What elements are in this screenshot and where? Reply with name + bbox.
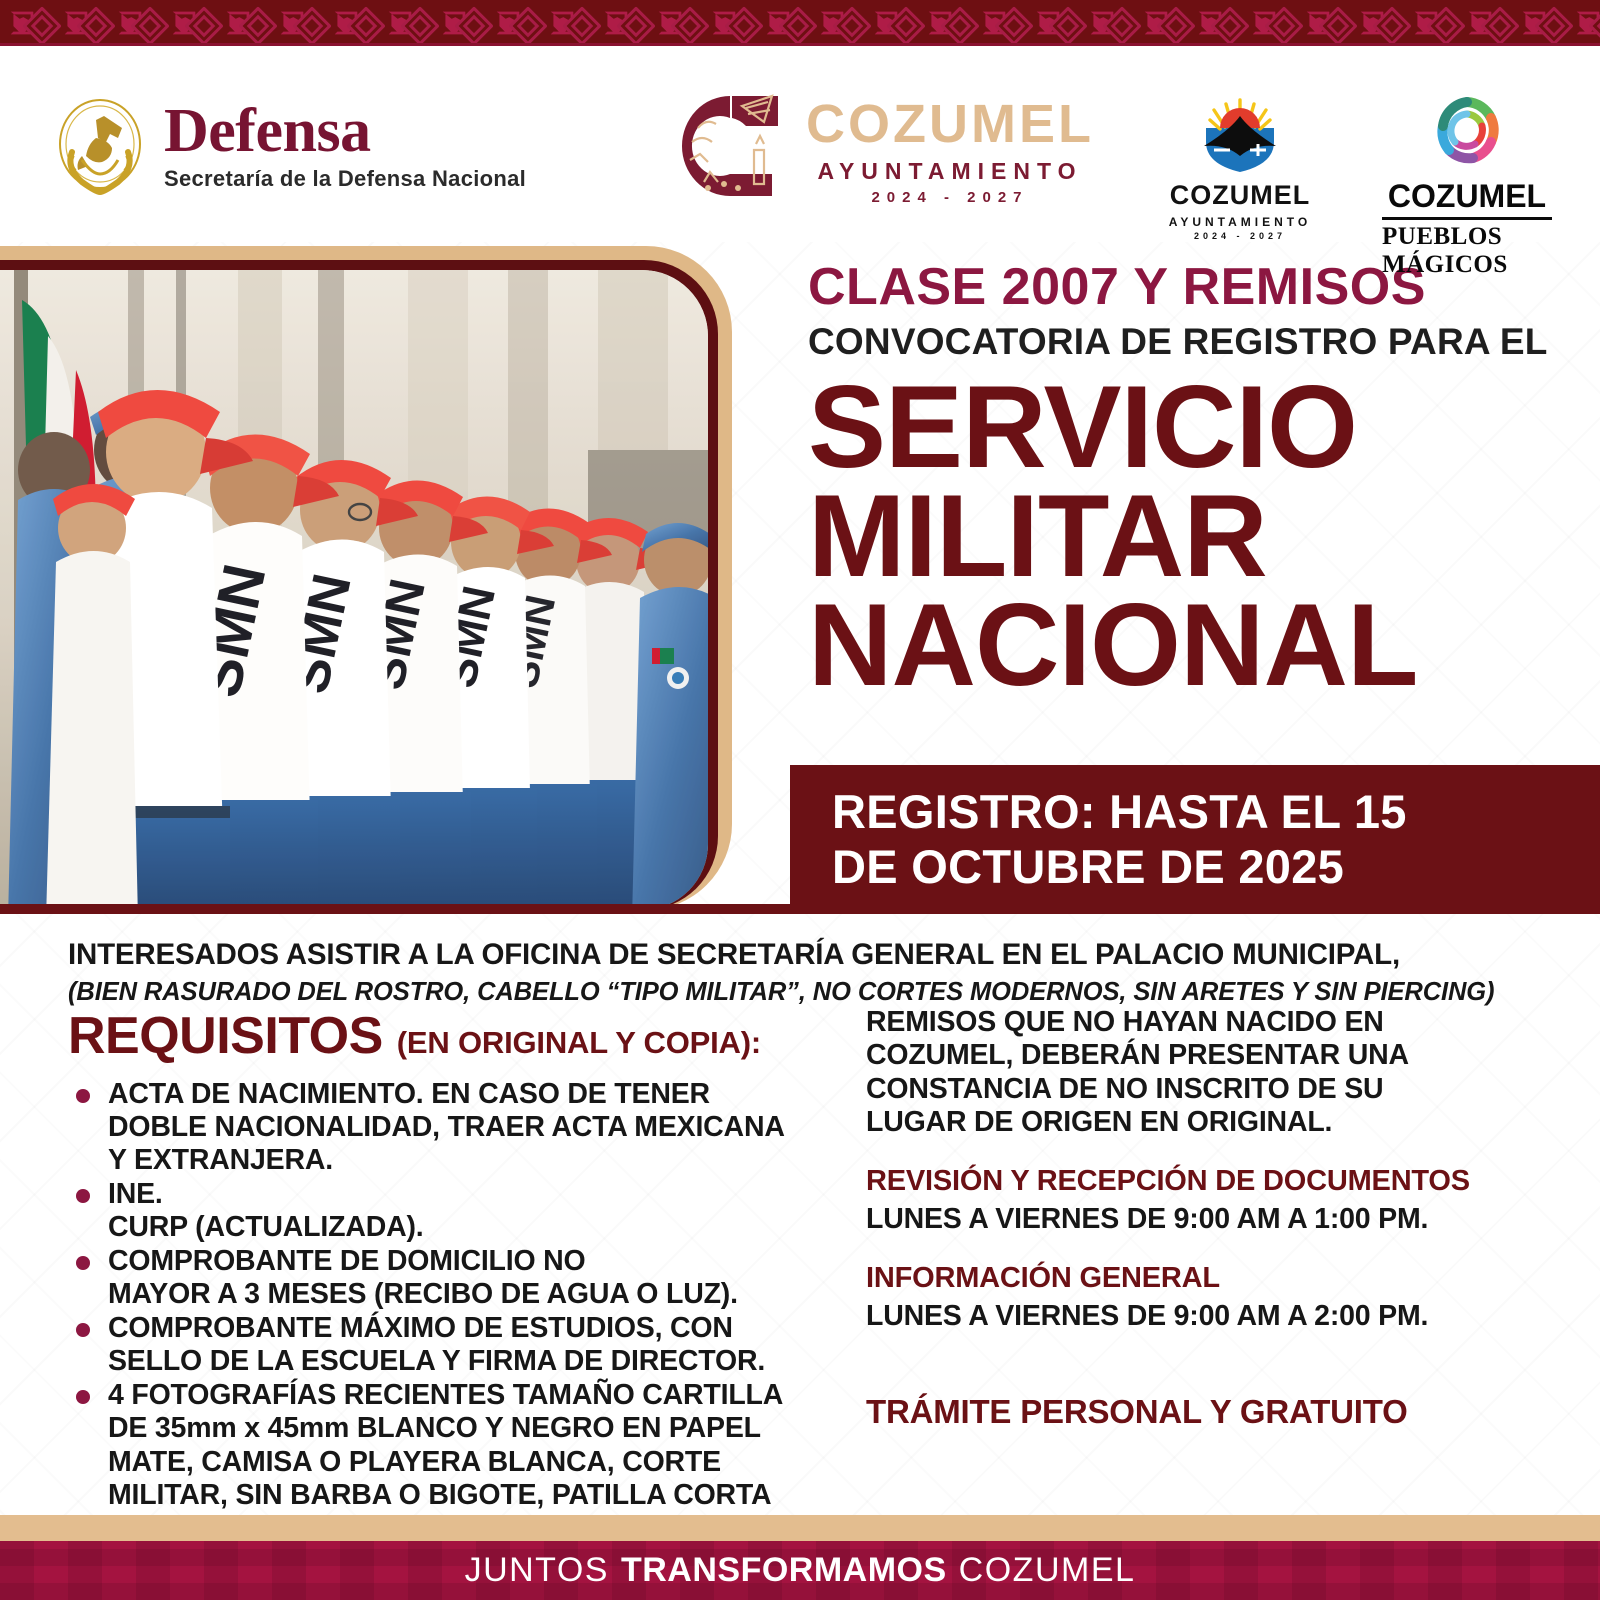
logo-escudo-cozumel: COZUMEL AYUNTAMIENTO 2024 - 2027 xyxy=(1178,90,1302,241)
defensa-subtitle: Secretaría de la Defensa Nacional xyxy=(164,166,526,192)
greca-motif-icon xyxy=(162,0,216,46)
footer-band: JUNTOS TRANSFORMAMOS COZUMEL xyxy=(0,1541,1600,1600)
cozumel-c-emblem-icon xyxy=(668,88,792,206)
hero-title-line-2: MILITAR xyxy=(808,482,1598,591)
greca-motif-icon xyxy=(486,0,540,46)
hero-photo-frame: SMN SMN xyxy=(0,246,732,910)
greca-motif-icon xyxy=(540,0,594,46)
revision-heading: REVISIÓN Y RECEPCIÓN DE DOCUMENTOS xyxy=(866,1165,1566,1198)
greca-motif-icon xyxy=(108,0,162,46)
greca-motif-icon xyxy=(1026,0,1080,46)
requisitos-list: ACTA DE NACIMIENTO. EN CASO DE TENER DOB… xyxy=(68,1078,828,1545)
hero-title-line-1: SERVICIO xyxy=(808,373,1598,482)
informacion-heading: INFORMACIÓN GENERAL xyxy=(866,1262,1566,1295)
greca-motif-icon xyxy=(324,0,378,46)
requisitos-column: REQUISITOS (EN ORIGINAL Y COPIA): ACTA D… xyxy=(68,1006,828,1546)
escudo-years: 2024 - 2027 xyxy=(1194,231,1286,241)
greca-motif-icon xyxy=(972,0,1026,46)
pueblos-magicos-divider xyxy=(1382,217,1552,220)
footer-beige-strip xyxy=(0,1515,1600,1541)
intro-sub-line: (BIEN RASURADO DEL ROSTRO, CABELLO “TIPO… xyxy=(68,978,1568,1007)
greca-motif-icon xyxy=(702,0,756,46)
greca-motif-icon xyxy=(0,0,54,46)
footer-slogan-bold: TRANSFORMAMOS xyxy=(621,1551,947,1590)
footer-slogan-post: COZUMEL xyxy=(959,1551,1136,1590)
greca-motif-icon xyxy=(1242,0,1296,46)
greca-motif-icon xyxy=(1080,0,1134,46)
intro-block: INTERESADOS ASISTIR A LA OFICINA DE SECR… xyxy=(68,938,1568,1007)
ayuntamiento-years: 2024 - 2027 xyxy=(871,189,1028,206)
ayuntamiento-cozumel-label: COZUMEL xyxy=(806,97,1094,151)
hero-section: SMN SMN xyxy=(0,242,1600,914)
revision-hours: LUNES A VIERNES DE 9:00 AM A 1:00 PM. xyxy=(866,1203,1566,1236)
list-item: ACTA DE NACIMIENTO. EN CASO DE TENER DOB… xyxy=(68,1078,828,1177)
logo-pueblos-magicos: COZUMEL PUEBLOS MÁGICOS xyxy=(1382,88,1552,279)
top-greca-border xyxy=(0,0,1600,46)
pueblos-magicos-label: PUEBLOS MÁGICOS xyxy=(1382,223,1552,279)
hero-bottom-rule xyxy=(0,904,1600,914)
greca-motif-icon xyxy=(648,0,702,46)
footer-slogan: JUNTOS TRANSFORMAMOS COZUMEL xyxy=(465,1551,1136,1590)
greca-motif-icon xyxy=(1134,0,1188,46)
registration-line-2: DE OCTUBRE DE 2025 xyxy=(832,840,1600,895)
list-item: COMPROBANTE MÁXIMO DE ESTUDIOS, CON SELL… xyxy=(68,1312,828,1378)
info-column: REMISOS QUE NO HAYAN NACIDO EN COZUMEL, … xyxy=(866,1006,1566,1546)
ayuntamiento-label: AYUNTAMIENTO xyxy=(817,158,1082,185)
hero-photo-inner-border: SMN SMN xyxy=(0,260,718,910)
intro-main-line: INTERESADOS ASISTIR A LA OFICINA DE SECR… xyxy=(68,938,1568,972)
defensa-title: Defensa xyxy=(164,100,526,162)
greca-motif-icon xyxy=(270,0,324,46)
greca-motif-icon xyxy=(1296,0,1350,46)
greca-motif-icon xyxy=(1566,0,1600,46)
hero-title: SERVICIO MILITAR NACIONAL xyxy=(808,373,1598,699)
mexican-eagle-seal-icon xyxy=(52,94,148,198)
greca-motif-icon xyxy=(432,0,486,46)
hero-photo-conscripts-in-formation: SMN SMN xyxy=(0,270,708,910)
pueblos-magicos-pinwheel-icon xyxy=(1425,88,1509,172)
tramite-gratuito-note: TRÁMITE PERSONAL Y GRATUITO xyxy=(866,1393,1566,1431)
list-item: INE. CURP (ACTUALIZADA). xyxy=(68,1178,828,1244)
body-section: INTERESADOS ASISTIR A LA OFICINA DE SECR… xyxy=(0,924,1600,1514)
greca-motif-icon xyxy=(378,0,432,46)
hero-subkicker: CONVOCATORIA DE REGISTRO PARA EL xyxy=(808,321,1598,364)
greca-motif-icon xyxy=(1512,0,1566,46)
poster-root: Defensa Secretaría de la Defensa Naciona… xyxy=(0,0,1600,1600)
logo-bar: Defensa Secretaría de la Defensa Naciona… xyxy=(0,46,1600,242)
hero-text-block: CLASE 2007 Y REMISOS CONVOCATORIA DE REG… xyxy=(808,260,1598,700)
greca-motif-icon xyxy=(216,0,270,46)
greca-motif-icon xyxy=(918,0,972,46)
requisitos-heading: REQUISITOS (EN ORIGINAL Y COPIA): xyxy=(68,1006,828,1066)
list-item: COMPROBANTE DE DOMICILIO NO MAYOR A 3 ME… xyxy=(68,1245,828,1311)
requisitos-title: REQUISITOS xyxy=(68,1006,383,1066)
cozumel-shield-icon xyxy=(1202,90,1278,174)
greca-motif-icon xyxy=(1458,0,1512,46)
greca-motif-icon xyxy=(756,0,810,46)
greca-pattern xyxy=(0,0,1600,46)
defensa-wordmark: Defensa Secretaría de la Defensa Naciona… xyxy=(164,100,526,192)
greca-motif-icon xyxy=(1350,0,1404,46)
registration-deadline-band: REGISTRO: HASTA EL 15 DE OCTUBRE DE 2025 xyxy=(790,765,1600,914)
pueblos-magicos-name: COZUMEL xyxy=(1388,178,1546,215)
greca-motif-icon xyxy=(864,0,918,46)
ayuntamiento-wordmark: COZUMEL AYUNTAMIENTO 2024 - 2027 xyxy=(806,89,1094,206)
hero-title-line-3: NACIONAL xyxy=(808,591,1598,700)
logo-ayuntamiento-cozumel: COZUMEL AYUNTAMIENTO 2024 - 2027 xyxy=(668,88,1094,206)
informacion-hours: LUNES A VIERNES DE 9:00 AM A 2:00 PM. xyxy=(866,1300,1566,1333)
greca-motif-icon xyxy=(810,0,864,46)
greca-motif-icon xyxy=(594,0,648,46)
greca-motif-icon xyxy=(1404,0,1458,46)
greca-motif-icon xyxy=(1188,0,1242,46)
requisitos-paren: (EN ORIGINAL Y COPIA): xyxy=(397,1025,761,1061)
two-column-layout: REQUISITOS (EN ORIGINAL Y COPIA): ACTA D… xyxy=(68,1006,1568,1546)
logo-defensa: Defensa Secretaría de la Defensa Naciona… xyxy=(52,94,526,198)
greca-motif-icon xyxy=(54,0,108,46)
registration-line-1: REGISTRO: HASTA EL 15 xyxy=(832,785,1600,840)
escudo-label: AYUNTAMIENTO xyxy=(1169,215,1311,229)
escudo-name: COZUMEL xyxy=(1170,180,1310,211)
footer-slogan-pre: JUNTOS xyxy=(465,1551,609,1590)
remisos-note: REMISOS QUE NO HAYAN NACIDO EN COZUMEL, … xyxy=(866,1006,1566,1139)
